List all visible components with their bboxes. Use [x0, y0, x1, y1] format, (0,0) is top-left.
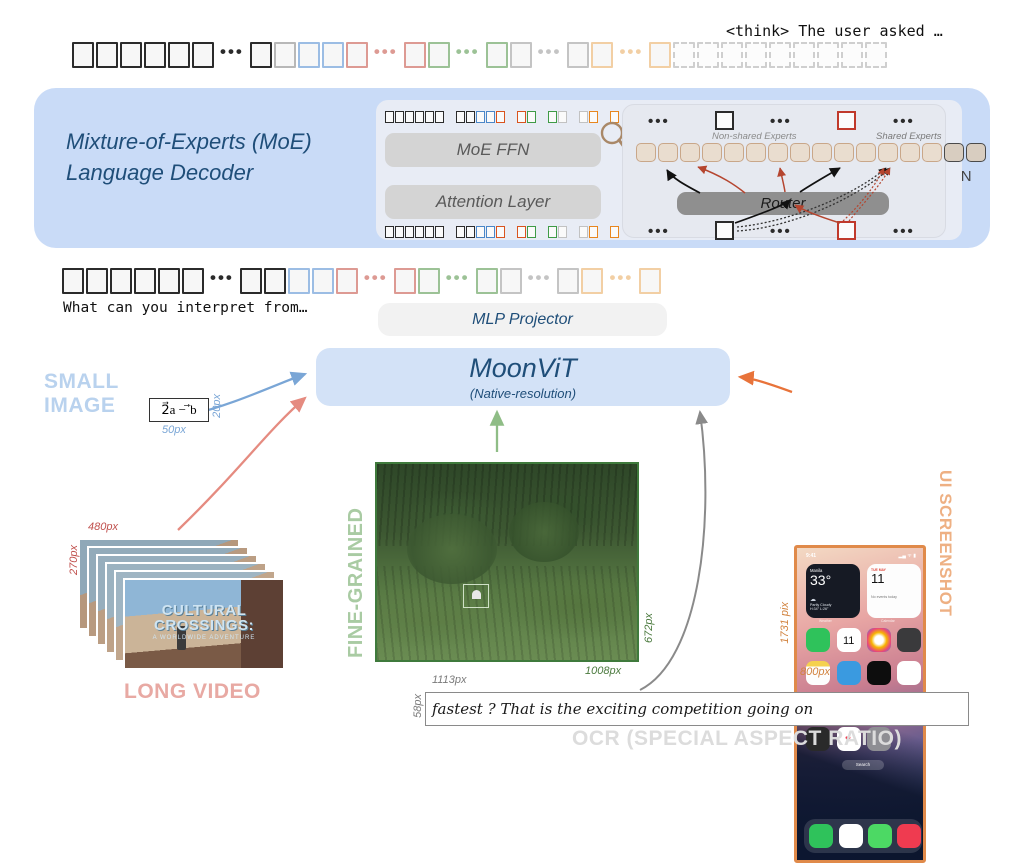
- ui-screenshot-label: UI SCREENSHOT: [935, 470, 955, 660]
- ellipsis-icon: •••: [770, 228, 792, 236]
- mini-token-orange: [610, 226, 619, 238]
- expert-unit[interactable]: [922, 143, 942, 162]
- token-square-green: [476, 268, 498, 294]
- token-square: [110, 268, 132, 294]
- moonvit-title: MoonViT: [469, 353, 577, 384]
- token-square: [192, 42, 214, 68]
- mini-token: [405, 111, 414, 123]
- layer-input-tokens: [385, 111, 620, 123]
- dock-icon-music[interactable]: [897, 824, 921, 848]
- token-square-gray: [557, 268, 579, 294]
- ellipsis-icon: •••: [893, 118, 915, 126]
- calendar-widget[interactable]: TUE MAY 11 No events today: [867, 564, 921, 618]
- mini-token-blue: [486, 226, 495, 238]
- expert-unit[interactable]: [724, 143, 744, 162]
- token-square-red: [404, 42, 426, 68]
- expert-unit[interactable]: [680, 143, 700, 162]
- token-square-orange: [639, 268, 661, 294]
- routed-token-black-top: [715, 111, 734, 130]
- mini-token: [425, 111, 434, 123]
- token-square-green: [428, 42, 450, 68]
- mini-token-red: [517, 111, 526, 123]
- moe-decoder-title: Mixture-of-Experts (MoE) Language Decode…: [66, 126, 366, 188]
- ellipsis-icon: •••: [770, 118, 792, 126]
- token-square: [120, 42, 142, 68]
- ocr-width-label: 1113px: [432, 674, 466, 686]
- expert-unit[interactable]: [658, 143, 678, 162]
- mini-token: [466, 226, 475, 238]
- token-square-blue: [288, 268, 310, 294]
- expert-unit[interactable]: [790, 143, 810, 162]
- mini-token-gray: [558, 226, 567, 238]
- mini-token-gray: [558, 111, 567, 123]
- ellipsis-icon: •••: [893, 228, 915, 236]
- weather-range: H:34° L:26°: [810, 607, 856, 611]
- ellipsis-icon: •••: [648, 228, 670, 236]
- non-shared-experts-label: Non-shared Experts: [712, 131, 796, 142]
- token-square-dashed: [865, 42, 887, 68]
- shared-expert-unit[interactable]: [966, 143, 986, 162]
- moe-title-line1: Mixture-of-Experts (MoE): [66, 126, 366, 157]
- token-square-gray: [567, 42, 589, 68]
- mini-token: [435, 226, 444, 238]
- attention-layer-label: Attention Layer: [436, 192, 550, 212]
- mini-token-green: [527, 111, 536, 123]
- token-square-orange: [581, 268, 603, 294]
- layer-output-tokens: [385, 226, 620, 238]
- routed-token-black-bottom: [715, 221, 734, 240]
- mini-token: [385, 111, 394, 123]
- moe-title-line2: Language Decoder: [66, 157, 366, 188]
- token-square: [86, 268, 108, 294]
- top-token-stream: ••• ••• ••• ••• •••: [72, 42, 889, 68]
- video-title: CULTURAL CROSSINGS:: [125, 603, 283, 633]
- mini-token: [385, 226, 394, 238]
- token-square: [96, 42, 118, 68]
- input-token-stream: ••• ••• ••• ••• •••: [62, 268, 663, 294]
- video-title-line1: CULTURAL: [125, 603, 283, 618]
- expert-unit[interactable]: [856, 143, 876, 162]
- calendar-day: 11: [871, 572, 917, 586]
- moe-ffn-label: MoE FFN: [457, 140, 530, 160]
- small-image-width-label: 50px: [162, 424, 186, 436]
- mini-token: [425, 226, 434, 238]
- ellipsis-icon: •••: [619, 47, 643, 57]
- dock-icon-phone[interactable]: [809, 824, 833, 848]
- token-square: [264, 268, 286, 294]
- small-image-height-label: 20px: [211, 394, 223, 418]
- mini-token: [466, 111, 475, 123]
- token-square-dashed: [817, 42, 839, 68]
- think-output-text: <think> The user asked …: [726, 22, 943, 40]
- ocr-height-label: 58px: [412, 694, 424, 718]
- ellipsis-icon: •••: [220, 47, 244, 57]
- token-square-gray: [500, 268, 522, 294]
- long-video-stack: CULTURAL CROSSINGS: A WORLDWIDE ADVENTUR…: [78, 538, 278, 668]
- small-image-label: SMALL IMAGE: [44, 370, 119, 418]
- ellipsis-icon: •••: [648, 118, 670, 126]
- token-square-blue: [312, 268, 334, 294]
- ellipsis-icon: •••: [609, 273, 633, 283]
- mini-token: [456, 111, 465, 123]
- mini-token-green: [548, 111, 557, 123]
- mini-token-gray: [579, 226, 588, 238]
- dock-icon-safari[interactable]: [839, 824, 863, 848]
- search-pill-label: Search: [856, 762, 870, 767]
- token-square-dashed: [721, 42, 743, 68]
- calendar-app-day: 11: [843, 635, 854, 647]
- token-square-orange: [591, 42, 613, 68]
- video-subtitle: A WORLDWIDE ADVENTURE: [125, 635, 283, 641]
- token-square: [274, 42, 296, 68]
- moonvit-block[interactable]: MoonViT (Native-resolution): [316, 348, 730, 406]
- shared-expert-unit[interactable]: [944, 143, 964, 162]
- token-square-red: [346, 42, 368, 68]
- search-pill[interactable]: Search: [842, 760, 884, 770]
- small-image-label-line1: SMALL: [44, 370, 119, 394]
- app-icon-camera[interactable]: [897, 628, 921, 652]
- ellipsis-icon: •••: [538, 47, 562, 57]
- mini-token-orange: [589, 111, 598, 123]
- dock-icon-messages[interactable]: [868, 824, 892, 848]
- token-square-dashed: [793, 42, 815, 68]
- mini-token: [395, 111, 404, 123]
- long-video-width-label: 480px: [88, 521, 118, 533]
- token-square-green: [418, 268, 440, 294]
- ui-screenshot-height-label: 1731 pix: [779, 602, 791, 644]
- ellipsis-icon: •••: [446, 273, 470, 283]
- token-square: [158, 268, 180, 294]
- mini-token-blue: [476, 111, 485, 123]
- mini-token-blue: [476, 226, 485, 238]
- small-image-thumbnail: 2⃗a − ⃗b: [149, 398, 209, 422]
- fine-grained-image: [375, 462, 639, 662]
- app-icon-photos[interactable]: [867, 628, 891, 652]
- app-icon-facetime[interactable]: [806, 628, 830, 652]
- moe-ffn-block[interactable]: MoE FFN: [385, 133, 601, 167]
- mini-token-green: [548, 226, 557, 238]
- mini-token-red: [496, 111, 505, 123]
- ellipsis-icon: •••: [364, 273, 388, 283]
- app-icon-tv[interactable]: [867, 661, 891, 685]
- ellipsis-icon: •••: [456, 47, 480, 57]
- token-square: [144, 42, 166, 68]
- moonvit-subtitle: (Native-resolution): [470, 386, 576, 401]
- mini-token-gray: [579, 111, 588, 123]
- token-square-dashed: [769, 42, 791, 68]
- mini-token: [415, 226, 424, 238]
- fine-grained-height-label: 672px: [643, 613, 655, 643]
- ocr-label: OCR (SPECIAL ASPECT RATIO): [572, 727, 902, 751]
- ocr-handwriting-text: fastest ? That is the exciting competiti…: [432, 700, 813, 718]
- token-square-blue: [322, 42, 344, 68]
- expert-unit[interactable]: [768, 143, 788, 162]
- mini-token-orange: [589, 226, 598, 238]
- token-square-blue: [298, 42, 320, 68]
- weather-widget-label: Weather: [819, 619, 832, 623]
- mini-token: [395, 226, 404, 238]
- calendar-widget-label: Calendar: [881, 619, 895, 623]
- token-square-red: [336, 268, 358, 294]
- mini-token-red: [517, 226, 526, 238]
- user-prompt-text: What can you interpret from…: [63, 300, 307, 316]
- token-square-red: [394, 268, 416, 294]
- weather-widget[interactable]: Manila 33° ☁ Partly Cloudy H:34° L:26°: [806, 564, 860, 618]
- token-square: [240, 268, 262, 294]
- token-square: [134, 268, 156, 294]
- weather-temp: 33°: [810, 573, 856, 588]
- calendar-events: No events today: [871, 595, 917, 599]
- expert-row: [636, 143, 988, 162]
- mlp-projector-block[interactable]: MLP Projector: [378, 303, 667, 336]
- routed-token-red-top: [837, 111, 856, 130]
- routed-token-red-bottom: [837, 221, 856, 240]
- small-image-label-line2: IMAGE: [44, 394, 119, 418]
- app-icon-mail[interactable]: [837, 661, 861, 685]
- ocr-image: fastest ? That is the exciting competiti…: [425, 692, 969, 726]
- ui-screenshot-width-label: 800px: [800, 666, 830, 678]
- token-square-dashed: [673, 42, 695, 68]
- ellipsis-icon: •••: [528, 273, 552, 283]
- token-square-orange: [649, 42, 671, 68]
- token-square-dashed: [745, 42, 767, 68]
- token-square-gray: [510, 42, 532, 68]
- phone-status-icons: ▂▄ ᯤ ▮: [899, 553, 916, 559]
- video-title-line2: CROSSINGS:: [125, 618, 283, 633]
- token-square: [62, 268, 84, 294]
- mini-token: [415, 111, 424, 123]
- mini-token-blue: [486, 111, 495, 123]
- mini-token: [456, 226, 465, 238]
- token-square: [168, 42, 190, 68]
- phone-status-time: 9:41: [806, 553, 816, 559]
- token-square: [182, 268, 204, 294]
- cloud-icon: ☁: [810, 596, 856, 603]
- mlp-projector-label: MLP Projector: [472, 311, 573, 329]
- expert-unit[interactable]: [636, 143, 656, 162]
- mini-token-red: [496, 226, 505, 238]
- ellipsis-icon: •••: [210, 273, 234, 283]
- small-image-content: 2⃗a − ⃗b: [161, 402, 196, 418]
- expert-unit[interactable]: [746, 143, 766, 162]
- fine-grained-width-label: 1008px: [585, 665, 621, 677]
- mini-token: [405, 226, 414, 238]
- ellipsis-icon: •••: [374, 47, 398, 57]
- expert-unit[interactable]: [834, 143, 854, 162]
- long-video-height-label: 270px: [68, 545, 80, 575]
- token-square: [72, 42, 94, 68]
- expert-unit[interactable]: [878, 143, 898, 162]
- token-square: [250, 42, 272, 68]
- app-icon-reminders[interactable]: [897, 661, 921, 685]
- shared-experts-label: Shared Experts: [876, 131, 941, 142]
- router-block[interactable]: Router: [677, 192, 889, 215]
- long-video-label: LONG VIDEO: [124, 680, 261, 704]
- video-frame-front: CULTURAL CROSSINGS: A WORLDWIDE ADVENTUR…: [123, 578, 285, 670]
- token-square-dashed: [697, 42, 719, 68]
- attention-layer-block[interactable]: Attention Layer: [385, 185, 601, 219]
- expert-unit[interactable]: [812, 143, 832, 162]
- mini-token: [435, 111, 444, 123]
- expert-unit[interactable]: [702, 143, 722, 162]
- token-square-dashed: [841, 42, 863, 68]
- mini-token-green: [527, 226, 536, 238]
- router-label: Router: [760, 195, 805, 212]
- expert-unit[interactable]: [900, 143, 920, 162]
- fine-grained-label: FINE-GRAINED: [345, 478, 368, 658]
- token-square-green: [486, 42, 508, 68]
